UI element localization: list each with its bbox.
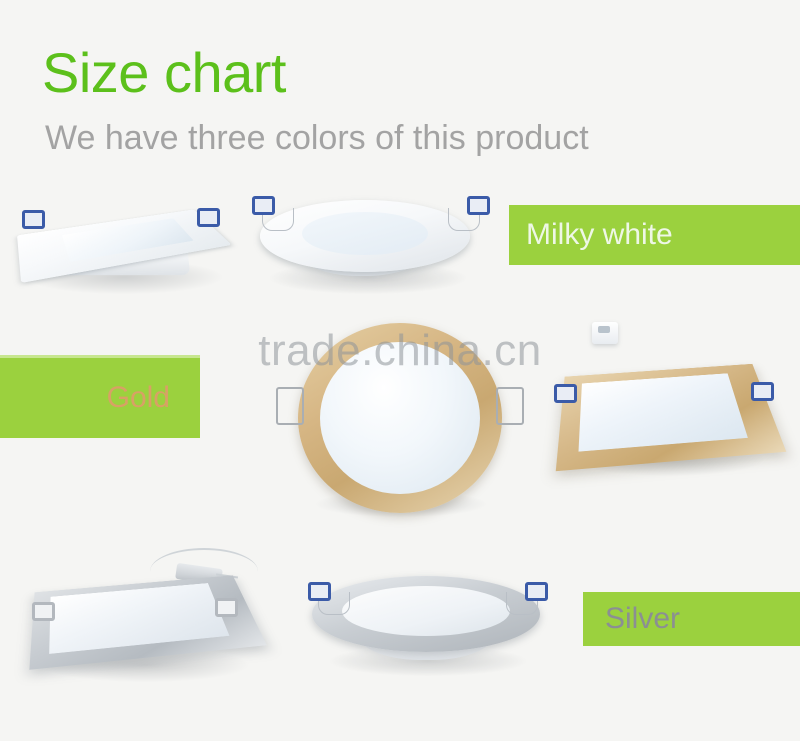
product-round-gold	[280, 315, 520, 520]
downlight-lens	[302, 212, 428, 255]
spring-clip-icon	[467, 196, 490, 215]
spring-clip-icon	[197, 208, 220, 227]
downlight-rim	[312, 576, 540, 652]
spring-clip-icon	[32, 602, 55, 621]
spring-clip-icon	[22, 210, 45, 229]
spring-clip-icon	[252, 196, 275, 215]
product-square-gold	[548, 322, 792, 497]
junction-box-icon	[592, 322, 618, 344]
panel-gold-ring	[298, 323, 502, 513]
label-band-gold: Gold	[0, 358, 200, 438]
panel-diffuser	[50, 583, 230, 654]
panel-diffuser	[320, 342, 479, 494]
page-subtitle: We have three colors of this product	[45, 118, 589, 158]
spring-clip-icon	[496, 387, 524, 425]
label-band-milky-white: Milky white	[509, 205, 800, 265]
spring-clip-icon	[308, 582, 331, 601]
label-band-silver: Silver	[583, 592, 800, 646]
page-title: Size chart	[42, 42, 286, 104]
downlight-lens	[342, 586, 511, 636]
spring-clip-icon	[525, 582, 548, 601]
spring-clip-icon	[276, 387, 304, 425]
label-band-silver-text: Silver	[605, 602, 680, 636]
product-square-white	[8, 186, 238, 294]
label-band-milky-white-text: Milky white	[526, 218, 673, 252]
spring-clip-icon	[554, 384, 577, 403]
spring-clip-icon	[215, 598, 238, 617]
product-round-white	[246, 186, 496, 294]
panel-diffuser	[578, 373, 747, 451]
label-band-gold-text: Gold	[107, 381, 170, 415]
product-round-silver	[300, 566, 556, 676]
product-square-silver	[24, 540, 284, 690]
spring-clip-icon	[751, 382, 774, 401]
size-chart-page: Size chart We have three colors of this …	[0, 0, 800, 741]
